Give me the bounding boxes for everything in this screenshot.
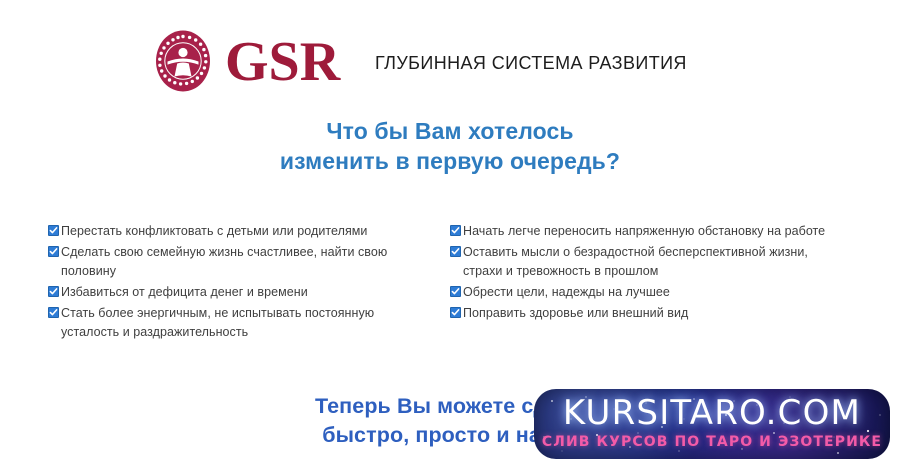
checkbox-checked-icon[interactable] (48, 286, 59, 297)
list-item-label: Стать более энергичным, не испытывать по… (61, 304, 423, 342)
checkbox-checked-icon[interactable] (48, 225, 59, 236)
page-title-line2: изменить в первую очередь? (0, 146, 900, 176)
checkbox-checked-icon[interactable] (48, 246, 59, 257)
benefits-checklist: Перестать конфликтовать с детьми или род… (0, 222, 900, 362)
list-item[interactable]: Оставить мысли о безрадостной бесперспек… (450, 243, 830, 281)
watermark-subtitle: СЛИВ КУРСОВ ПО ТАРО И ЭЗОТЕРИКЕ (534, 434, 890, 450)
watermark-badge: KURSITARO.COM СЛИВ КУРСОВ ПО ТАРО И ЭЗОТ… (534, 389, 890, 459)
checklist-column-left: Перестать конфликтовать с детьми или род… (48, 222, 423, 344)
list-item-label: Поправить здоровье или внешний вид (463, 304, 688, 323)
list-item-label: Избавиться от дефицита денег и времени (61, 283, 308, 302)
checklist-column-right: Начать легче переносить напряженную обст… (450, 222, 830, 325)
slide-canvas: GSR ГЛУБИННАЯ СИСТЕМА РАЗВИТИЯ Что бы Ва… (0, 0, 900, 462)
list-item-label: Оставить мысли о безрадостной бесперспек… (463, 243, 830, 281)
checkbox-checked-icon[interactable] (450, 286, 461, 297)
list-item-label: Сделать свою семейную жизнь счастливее, … (61, 243, 423, 281)
page-title-line1: Что бы Вам хотелось (326, 118, 573, 144)
checkbox-checked-icon[interactable] (450, 307, 461, 318)
list-item[interactable]: Перестать конфликтовать с детьми или род… (48, 222, 423, 241)
list-item[interactable]: Избавиться от дефицита денег и времени (48, 283, 423, 302)
checkbox-checked-icon[interactable] (450, 246, 461, 257)
brand-tagline: ГЛУБИННАЯ СИСТЕМА РАЗВИТИЯ (375, 53, 687, 74)
list-item-label: Перестать конфликтовать с детьми или род… (61, 222, 367, 241)
list-item[interactable]: Поправить здоровье или внешний вид (450, 304, 830, 323)
gsr-emblem-icon (155, 30, 211, 92)
list-item-label: Обрести цели, надежды на лучшее (463, 283, 670, 302)
list-item[interactable]: Начать легче переносить напряженную обст… (450, 222, 830, 241)
list-item[interactable]: Сделать свою семейную жизнь счастливее, … (48, 243, 423, 281)
checkbox-checked-icon[interactable] (450, 225, 461, 236)
brand-wordmark: GSR (225, 34, 340, 90)
checkbox-checked-icon[interactable] (48, 307, 59, 318)
list-item[interactable]: Обрести цели, надежды на лучшее (450, 283, 830, 302)
page-title: Что бы Вам хотелось изменить в первую оч… (0, 116, 900, 176)
watermark-domain: KURSITARO.COM (534, 393, 890, 433)
list-item[interactable]: Стать более энергичным, не испытывать по… (48, 304, 423, 342)
list-item-label: Начать легче переносить напряженную обст… (463, 222, 825, 241)
brand-lockup: GSR (155, 30, 340, 92)
